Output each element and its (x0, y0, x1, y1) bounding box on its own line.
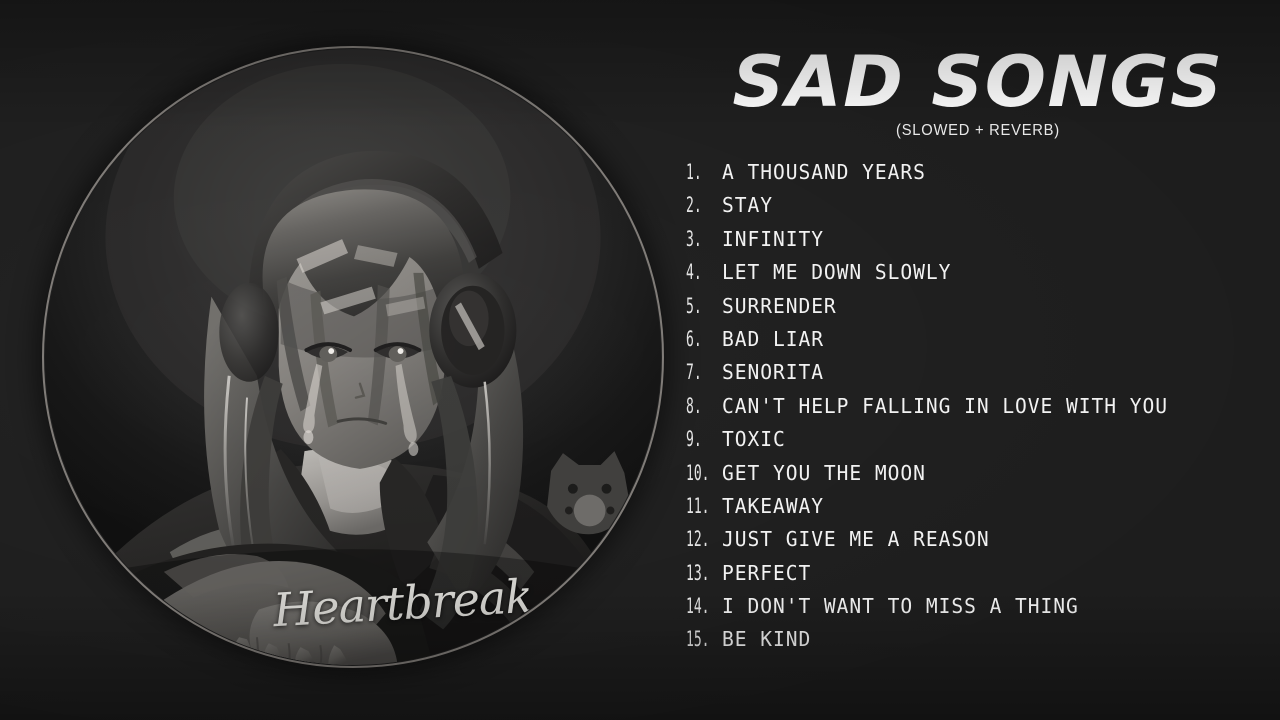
list-item[interactable]: 3.INFINITY (686, 227, 1280, 260)
track-title: I DON'T WANT TO MISS A THING (722, 594, 1079, 618)
album-artwork: Heartbreak (42, 46, 664, 668)
track-number: 1. (686, 160, 708, 184)
track-title: INFINITY (722, 227, 824, 251)
list-item[interactable]: 12.JUST GIVE ME A REASON (686, 527, 1280, 560)
track-title: BAD LIAR (722, 327, 824, 351)
track-number: 8. (686, 394, 708, 418)
track-title: BE KIND (722, 627, 811, 651)
track-title: JUST GIVE ME A REASON (722, 527, 990, 551)
track-number: 11. (686, 494, 708, 518)
track-number: 5. (686, 294, 708, 318)
list-item[interactable]: 11.TAKEAWAY (686, 494, 1280, 527)
track-number: 6. (686, 327, 708, 351)
list-item[interactable]: 1.A THOUSAND YEARS (686, 160, 1280, 193)
playlist-poster: Heartbreak SAD SONGS (SLOWED + REVERB) 1… (0, 0, 1280, 720)
track-title: CAN'T HELP FALLING IN LOVE WITH YOU (722, 394, 1168, 418)
list-item[interactable]: 2.STAY (686, 193, 1280, 226)
track-number: 4. (686, 260, 708, 284)
track-title: LET ME DOWN SLOWLY (722, 260, 951, 284)
track-title: A THOUSAND YEARS (722, 160, 926, 184)
list-item[interactable]: 5.SURRENDER (686, 294, 1280, 327)
track-number: 2. (686, 193, 708, 217)
track-title: SENORITA (722, 360, 824, 384)
track-title: GET YOU THE MOON (722, 461, 926, 485)
tracklist: 1.A THOUSAND YEARS2.STAY3.INFINITY4.LET … (686, 160, 1280, 661)
artwork-clip: Heartbreak (45, 49, 661, 665)
page-subtitle: (SLOWED + REVERB) (691, 122, 1265, 140)
list-item[interactable]: 13.PERFECT (686, 561, 1280, 594)
list-item[interactable]: 6.BAD LIAR (686, 327, 1280, 360)
track-number: 14. (686, 594, 708, 618)
list-item[interactable]: 8.CAN'T HELP FALLING IN LOVE WITH YOU (686, 394, 1280, 427)
track-number: 3. (686, 227, 708, 251)
artwork-illustration (45, 49, 661, 665)
page-title: SAD SONGS (667, 44, 1280, 120)
track-number: 10. (686, 461, 708, 485)
content-column: SAD SONGS (SLOWED + REVERB) 1.A THOUSAND… (676, 0, 1280, 720)
track-number: 9. (686, 427, 708, 451)
track-title: PERFECT (722, 561, 811, 585)
track-title: TAKEAWAY (722, 494, 824, 518)
track-number: 13. (686, 561, 708, 585)
track-title: TOXIC (722, 427, 786, 451)
list-item[interactable]: 14.I DON'T WANT TO MISS A THING (686, 594, 1280, 627)
list-item[interactable]: 9.TOXIC (686, 427, 1280, 460)
track-number: 7. (686, 360, 708, 384)
list-item[interactable]: 10.GET YOU THE MOON (686, 461, 1280, 494)
list-item[interactable]: 15.BE KIND (686, 627, 1280, 660)
list-item[interactable]: 7.SENORITA (686, 360, 1280, 393)
track-title: SURRENDER (722, 294, 837, 318)
track-title: STAY (722, 193, 773, 217)
list-item[interactable]: 4.LET ME DOWN SLOWLY (686, 260, 1280, 293)
track-number: 12. (686, 527, 708, 551)
track-number: 15. (686, 627, 708, 651)
